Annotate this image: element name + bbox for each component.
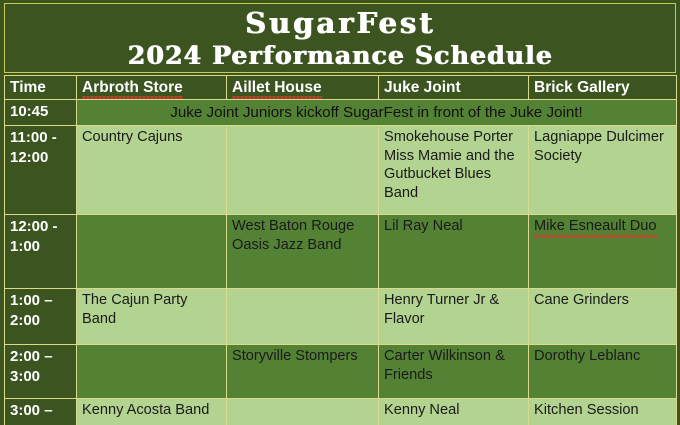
spellcheck-underline-arbroth: Arbroth Store — [82, 78, 183, 98]
time-cell: 12:00 - 1:00 — [5, 215, 77, 289]
cell-brick-gallery: Dorothy Leblanc — [529, 345, 677, 399]
cell-arbroth-store — [77, 215, 227, 289]
cell-aillet-house: Storyville Stompers — [227, 345, 379, 399]
column-header-brick-gallery: Brick Gallery — [529, 76, 677, 100]
column-header-arbroth-store: Arbroth Store — [77, 76, 227, 100]
cell-aillet-house — [227, 126, 379, 215]
cell-juke-joint: Smokehouse Porter Miss Mamie and the Gut… — [379, 126, 529, 215]
cell-brick-gallery: Mike Esneault Duo — [529, 215, 677, 289]
table-row: 12:00 - 1:00 West Baton Rouge Oasis Jazz… — [5, 215, 677, 289]
cell-juke-joint: Kenny Neal — [379, 399, 529, 425]
table-row-kickoff: 10:45 Juke Joint Juniors kickoff SugarFe… — [5, 100, 677, 126]
table-row: 11:00 - 12:00 Country Cajuns Smokehouse … — [5, 126, 677, 215]
time-cell-1045: 10:45 — [5, 100, 77, 126]
cell-brick-gallery: Kitchen Session — [529, 399, 677, 425]
cell-aillet-house — [227, 399, 379, 425]
cell-arbroth-store: Kenny Acosta Band — [77, 399, 227, 425]
time-cell: 3:00 – 4:00 — [5, 399, 77, 425]
poster-title-block: SugarFest 2024 Performance Schedule — [4, 3, 676, 73]
cell-arbroth-store: Country Cajuns — [77, 126, 227, 215]
time-cell: 1:00 – 2:00 — [5, 289, 77, 345]
table-header-row: Time Arbroth Store Aillet House Juke Joi… — [5, 76, 677, 100]
performance-schedule-table: Time Arbroth Store Aillet House Juke Joi… — [4, 75, 677, 425]
time-cell: 2:00 – 3:00 — [5, 345, 77, 399]
schedule-poster: SugarFest 2024 Performance Schedule Time… — [0, 0, 680, 425]
cell-juke-joint: Henry Turner Jr & Flavor — [379, 289, 529, 345]
time-cell: 11:00 - 12:00 — [5, 126, 77, 215]
cell-aillet-house — [227, 289, 379, 345]
cell-arbroth-store — [77, 345, 227, 399]
kickoff-announcement: Juke Joint Juniors kickoff SugarFest in … — [77, 100, 677, 126]
cell-brick-gallery: Lagniappe Dulcimer Society — [529, 126, 677, 215]
table-row: 3:00 – 4:00 Kenny Acosta Band Kenny Neal… — [5, 399, 677, 425]
spellcheck-underline-aillet: Aillet House — [232, 78, 322, 98]
spellcheck-underline-esneault: Mike Esneault Duo — [534, 217, 657, 236]
column-header-time: Time — [5, 76, 77, 100]
cell-juke-joint: Carter Wilkinson & Friends — [379, 345, 529, 399]
cell-juke-joint: Lil Ray Neal — [379, 215, 529, 289]
festival-title: SugarFest — [245, 9, 436, 38]
table-row: 2:00 – 3:00 Storyville Stompers Carter W… — [5, 345, 677, 399]
schedule-subtitle: 2024 Performance Schedule — [127, 43, 552, 68]
cell-aillet-house: West Baton Rouge Oasis Jazz Band — [227, 215, 379, 289]
column-header-aillet-house: Aillet House — [227, 76, 379, 100]
cell-brick-gallery: Cane Grinders — [529, 289, 677, 345]
cell-arbroth-store: The Cajun Party Band — [77, 289, 227, 345]
table-row: 1:00 – 2:00 The Cajun Party Band Henry T… — [5, 289, 677, 345]
column-header-juke-joint: Juke Joint — [379, 76, 529, 100]
